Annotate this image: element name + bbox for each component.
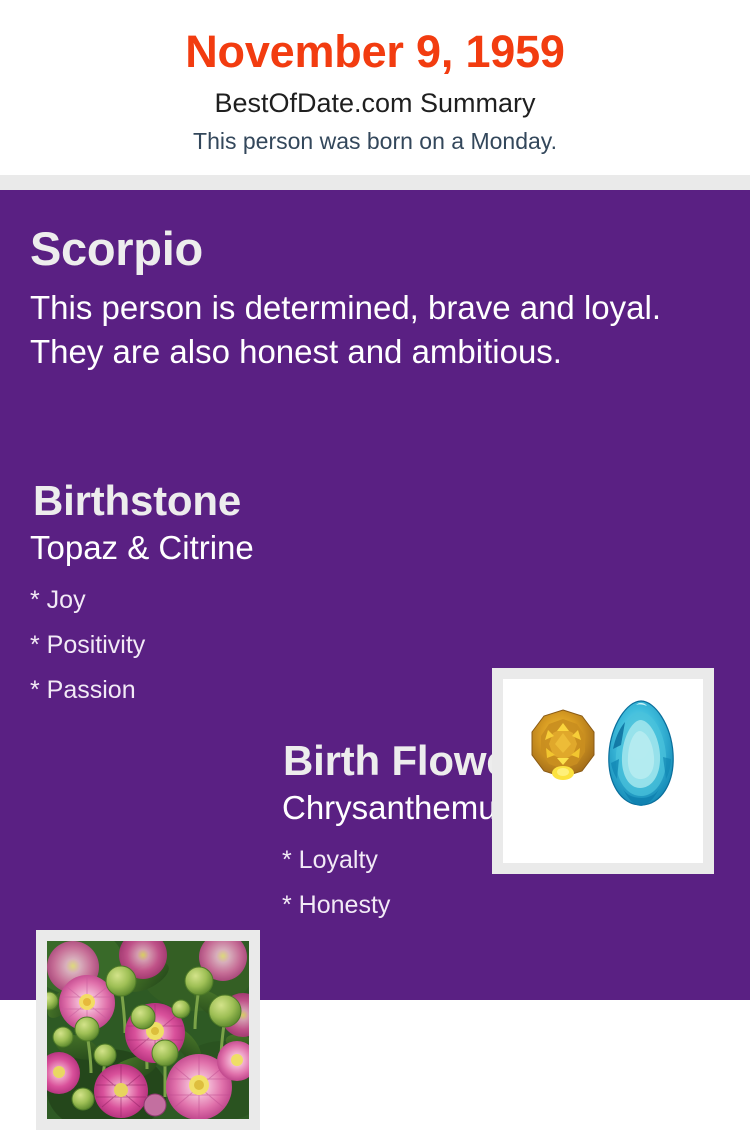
site-summary-label: BestOfDate.com Summary — [0, 86, 750, 120]
birth-flower-name: Chrysanthemum — [282, 787, 524, 829]
birthstone-image-frame — [492, 668, 714, 874]
zodiac-sign-heading: Scorpio — [30, 220, 203, 278]
page-title-date: November 9, 1959 — [0, 24, 750, 80]
birthstone-name: Topaz & Citrine — [30, 527, 254, 569]
zodiac-description: This person is determined, brave and loy… — [30, 286, 700, 374]
birth-flower-heading: Birth Flower — [283, 735, 526, 787]
page-root: November 9, 1959 BestOfDate.com Summary … — [0, 0, 750, 1000]
summary-panel: Scorpio This person is determined, brave… — [0, 190, 750, 1000]
birth-flower-image-frame — [36, 930, 260, 1130]
birth-flower-image — [47, 941, 249, 1119]
list-item: * Positivity — [30, 623, 450, 668]
birthstone-trait-list: * Joy * Positivity * Passion — [30, 578, 450, 713]
header: November 9, 1959 BestOfDate.com Summary … — [0, 0, 750, 175]
birthstone-heading: Birthstone — [33, 475, 241, 527]
chrysanthemums-illustration — [47, 941, 249, 1119]
list-item: * Joy — [30, 578, 450, 623]
list-item: * Honesty — [282, 883, 702, 928]
gemstones-illustration — [503, 679, 703, 863]
header-divider — [0, 175, 750, 190]
list-item: * Passion — [30, 668, 450, 713]
birthstone-image — [503, 679, 703, 863]
birth-day-note: This person was born on a Monday. — [0, 126, 750, 156]
